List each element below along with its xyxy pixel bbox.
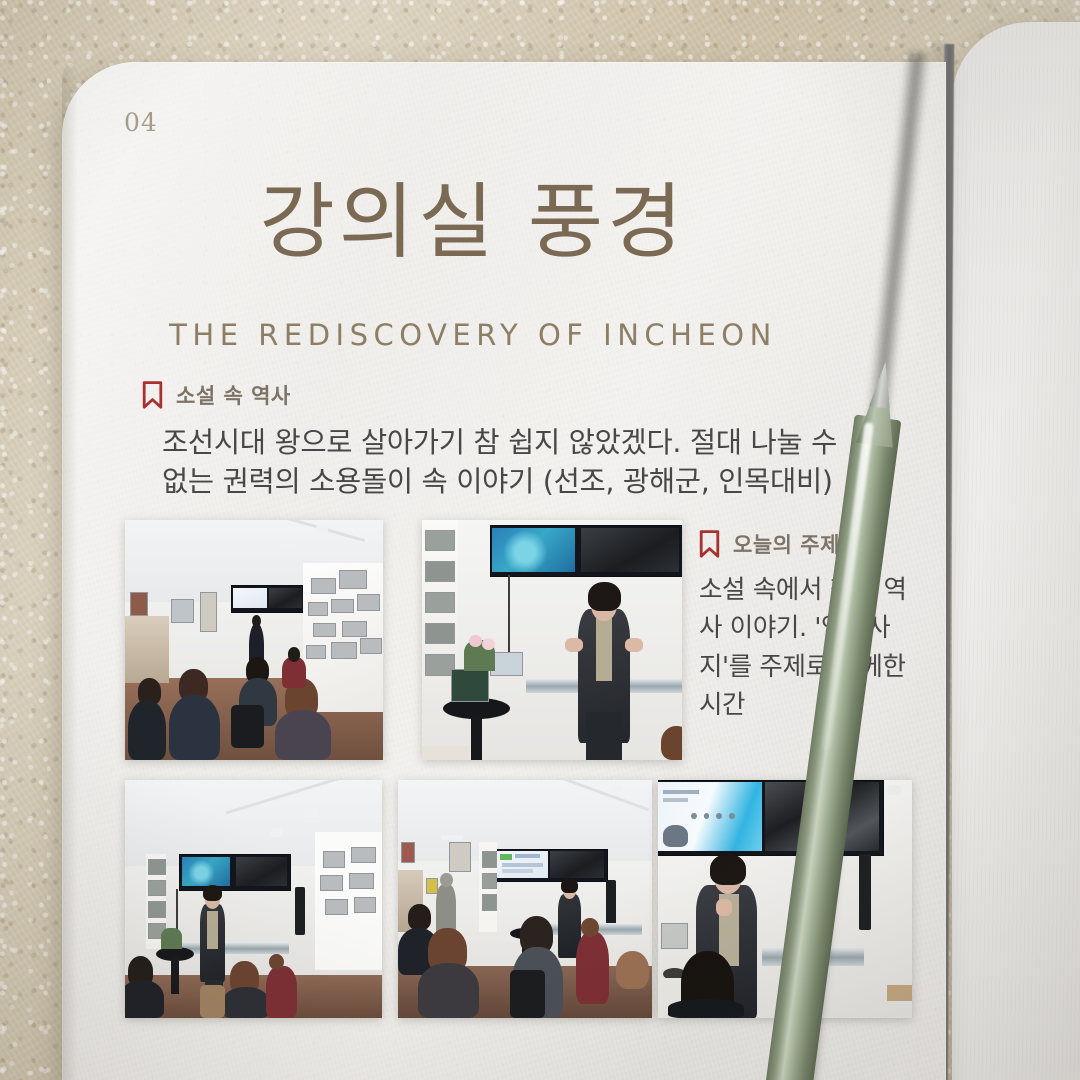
photo-lecture-room-audience-wide[interactable] <box>125 520 383 760</box>
bookmark-icon <box>699 530 720 558</box>
photo-room-angle-with-slide-on-screen[interactable] <box>398 780 652 1018</box>
page-title: 강의실 풍경 <box>0 182 946 264</box>
page-number: 04 <box>124 108 158 137</box>
page-subtitle: THE REDISCOVERY OF INCHEON <box>0 318 946 352</box>
section-heading-2: 오늘의 주제 <box>699 529 840 559</box>
section-body-2: 소설 속에서 찾는 역사 이야기. '역지사지'를 주제로 함께한 시간 <box>699 571 915 724</box>
photo-speaker-with-screen-and-audience[interactable] <box>125 780 382 1018</box>
slide-canvas: 04 강의실 풍경 THE REDISCOVERY OF INCHEON 소설 … <box>0 0 1080 1080</box>
photo-speaker-gesturing-front-screen[interactable] <box>422 520 682 760</box>
section-heading-1: 소설 속 역사 <box>142 380 291 410</box>
section-heading-1-label: 소설 속 역사 <box>176 380 291 410</box>
bookmark-icon <box>142 381 163 409</box>
section-body-1: 조선시대 왕으로 살아가기 참 쉽지 않았겠다. 절대 나눌 수 없는 권력의 … <box>162 423 870 502</box>
section-heading-2-label: 오늘의 주제 <box>733 529 840 559</box>
pencil-lead <box>869 361 896 409</box>
